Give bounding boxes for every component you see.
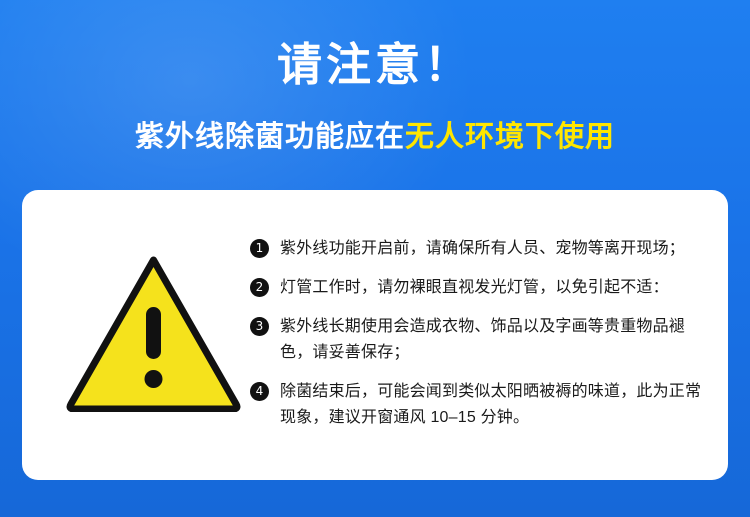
list-item-number: 1 (250, 239, 269, 258)
subtitle-highlight: 无人环境下使用 (405, 121, 615, 153)
list-item-label: 紫外线长期使用会造成衣物、饰品以及字画等贵重物品褪色，请妥善保存； (280, 314, 704, 366)
list-item: 4 除菌结束后，可能会闻到类似太阳晒被褥的味道，此为正常现象，建议开窗通风 10… (250, 379, 704, 431)
page-subtitle: 紫外线除菌功能应在无人环境下使用 (0, 120, 750, 155)
notes-list: 1 紫外线功能开启前，请确保所有人员、宠物等离开现场； 2 灯管工作时，请勿裸眼… (250, 236, 704, 430)
list-item-number: 3 (250, 317, 269, 336)
list-item-number: 2 (250, 278, 269, 297)
warning-triangle-icon (66, 252, 241, 412)
list-item-label: 除菌结束后，可能会闻到类似太阳晒被褥的味道，此为正常现象，建议开窗通风 10–1… (280, 379, 704, 431)
subtitle-prefix: 紫外线除菌功能应在 (135, 121, 405, 153)
list-item: 2 灯管工作时，请勿裸眼直视发光灯管，以免引起不适： (250, 275, 704, 301)
list-item-number: 4 (250, 382, 269, 401)
list-item: 3 紫外线长期使用会造成衣物、饰品以及字画等贵重物品褪色，请妥善保存； (250, 314, 704, 366)
page-title: 请注意！ (0, 40, 750, 90)
poster-container: 请注意！ 紫外线除菌功能应在无人环境下使用 1 紫外线功能开启前，请确保所有人员… (0, 0, 750, 517)
list-item: 1 紫外线功能开启前，请确保所有人员、宠物等离开现场； (250, 236, 704, 262)
list-item-label: 紫外线功能开启前，请确保所有人员、宠物等离开现场； (280, 236, 685, 262)
notice-card: 1 紫外线功能开启前，请确保所有人员、宠物等离开现场； 2 灯管工作时，请勿裸眼… (22, 190, 728, 480)
list-item-label: 灯管工作时，请勿裸眼直视发光灯管，以免引起不适： (280, 275, 669, 301)
